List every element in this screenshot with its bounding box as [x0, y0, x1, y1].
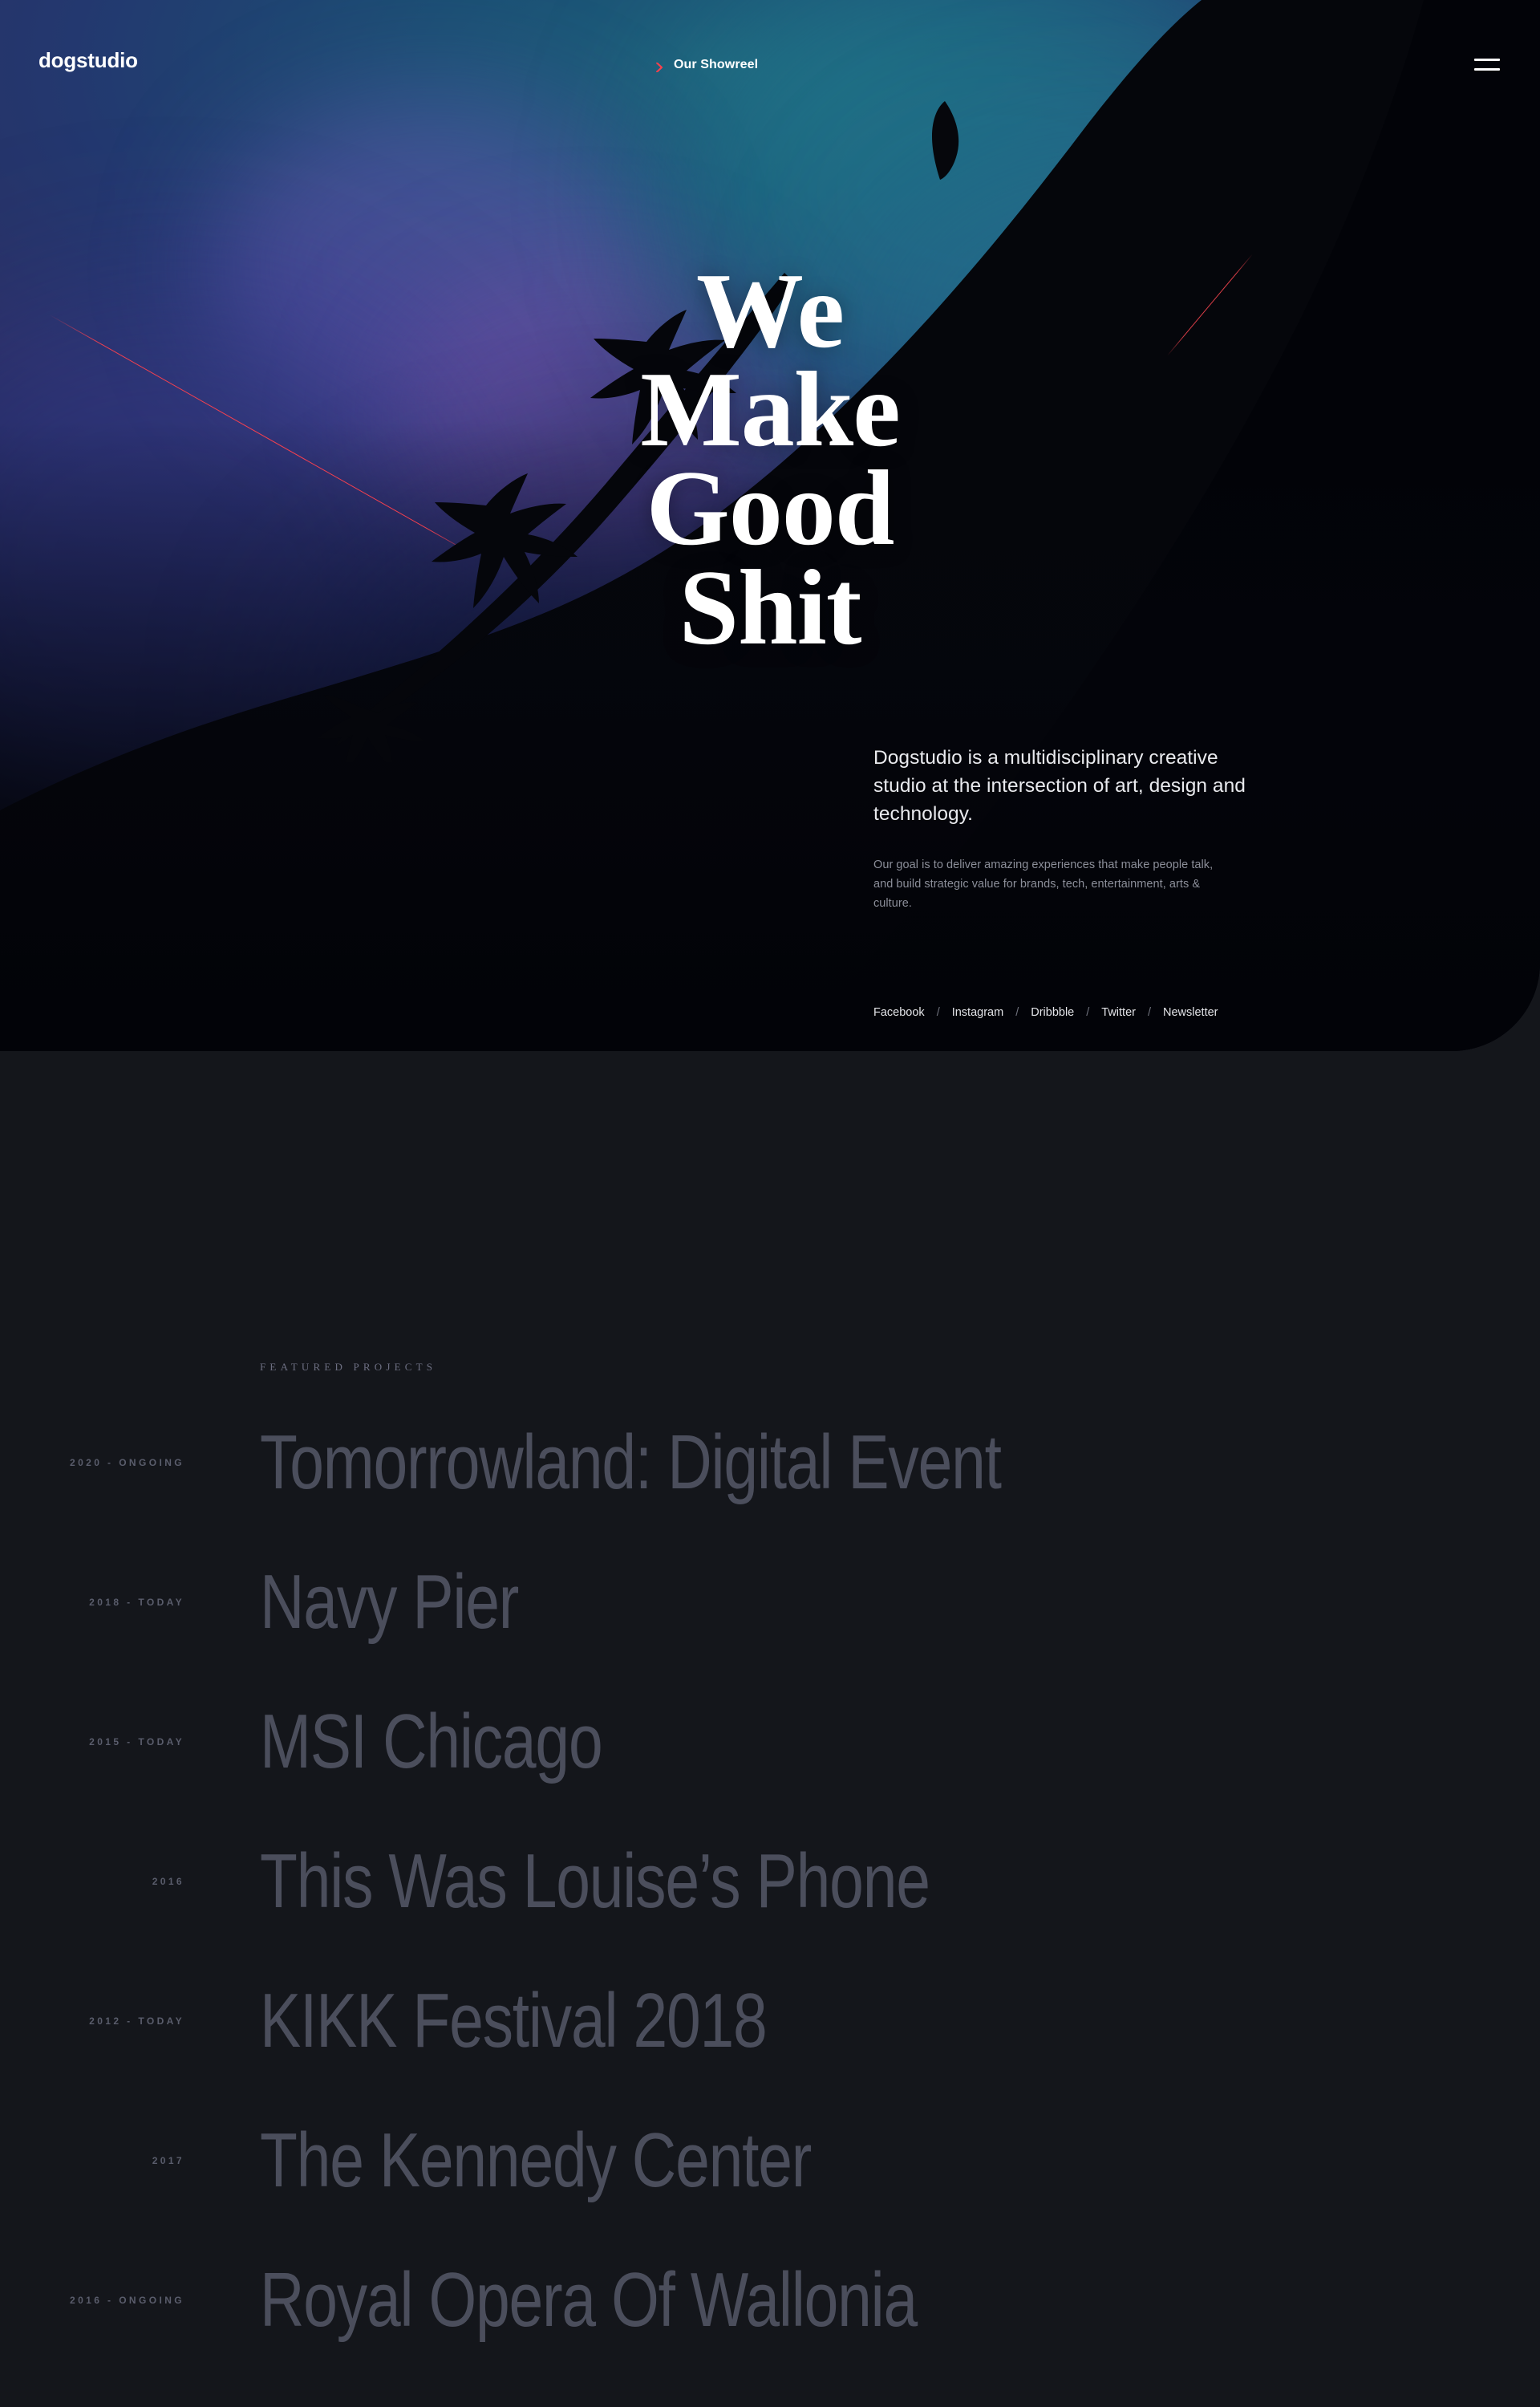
project-title: Tomorrowland: Digital Event — [260, 1424, 1001, 1501]
social-separator: / — [1148, 1006, 1151, 1019]
project-title: The Kennedy Center — [260, 2122, 811, 2199]
hamburger-line-bottom — [1474, 68, 1500, 71]
project-year: 2016 — [0, 1876, 184, 1887]
project-year: 2012 - Today — [0, 2015, 184, 2027]
social-link-instagram[interactable]: Instagram — [952, 1006, 1003, 1019]
showreel-link[interactable]: Our Showreel — [656, 58, 758, 72]
project-title: Royal Opera Of Wallonia — [260, 2262, 917, 2339]
project-row[interactable]: 2016 - Ongoing Royal Opera Of Wallonia — [0, 2230, 1540, 2370]
project-row[interactable]: 2016 This Was Louise’s Phone — [0, 1812, 1540, 1951]
headline-line-4: Shit — [0, 558, 1540, 657]
hero-lead-text: Dogstudio is a multidisciplinary creativ… — [873, 745, 1250, 828]
project-year: 2017 — [0, 2155, 184, 2166]
hero-section: dogstudio Our Showreel We Make Good Shit… — [0, 0, 1540, 1051]
project-row[interactable]: 2017 The Kennedy Center — [0, 2091, 1540, 2230]
chevron-right-icon — [656, 62, 663, 69]
project-row[interactable]: 2020 - Ongoing Tomorrowland: Digital Eve… — [0, 1393, 1540, 1532]
floating-leaf-silhouette — [921, 101, 964, 180]
project-year: 2020 - Ongoing — [0, 1457, 184, 1468]
site-header: dogstudio Our Showreel — [0, 0, 1540, 71]
featured-projects-label: Featured Projects — [260, 1361, 436, 1374]
project-title: KIKK Festival 2018 — [260, 1983, 767, 2060]
social-separator: / — [1086, 1006, 1089, 1019]
social-link-dribbble[interactable]: Dribbble — [1031, 1006, 1074, 1019]
project-row[interactable]: 2012 - Today KIKK Festival 2018 — [0, 1951, 1540, 2091]
showreel-label: Our Showreel — [674, 58, 758, 72]
headline-line-1: We — [0, 262, 1540, 360]
hero-sub-text: Our goal is to deliver amazing experienc… — [873, 855, 1220, 913]
social-separator: / — [1015, 1006, 1019, 1019]
project-list: 2020 - Ongoing Tomorrowland: Digital Eve… — [0, 1393, 1540, 2370]
social-link-facebook[interactable]: Facebook — [873, 1006, 925, 1019]
project-title: Navy Pier — [260, 1564, 518, 1641]
social-links: Facebook / Instagram / Dribbble / Twitte… — [873, 1006, 1218, 1019]
social-link-newsletter[interactable]: Newsletter — [1163, 1006, 1218, 1019]
headline-line-3: Good — [0, 459, 1540, 558]
project-title: This Was Louise’s Phone — [260, 1843, 930, 1920]
hero-intro-block: Dogstudio is a multidisciplinary creativ… — [873, 745, 1250, 914]
project-year: 2015 - Today — [0, 1736, 184, 1747]
social-link-twitter[interactable]: Twitter — [1101, 1006, 1136, 1019]
hamburger-line-top — [1474, 59, 1500, 61]
hero-headline: We Make Good Shit — [0, 262, 1540, 657]
project-year: 2016 - Ongoing — [0, 2295, 184, 2306]
project-year: 2018 - Today — [0, 1597, 184, 1608]
project-row[interactable]: 2018 - Today Navy Pier — [0, 1532, 1540, 1672]
project-row[interactable]: 2015 - Today MSI Chicago — [0, 1672, 1540, 1812]
site-logo[interactable]: dogstudio — [38, 50, 138, 71]
social-separator: / — [937, 1006, 940, 1019]
headline-line-2: Make — [0, 360, 1540, 459]
hamburger-menu-icon[interactable] — [1469, 55, 1501, 75]
project-title: MSI Chicago — [260, 1703, 602, 1780]
